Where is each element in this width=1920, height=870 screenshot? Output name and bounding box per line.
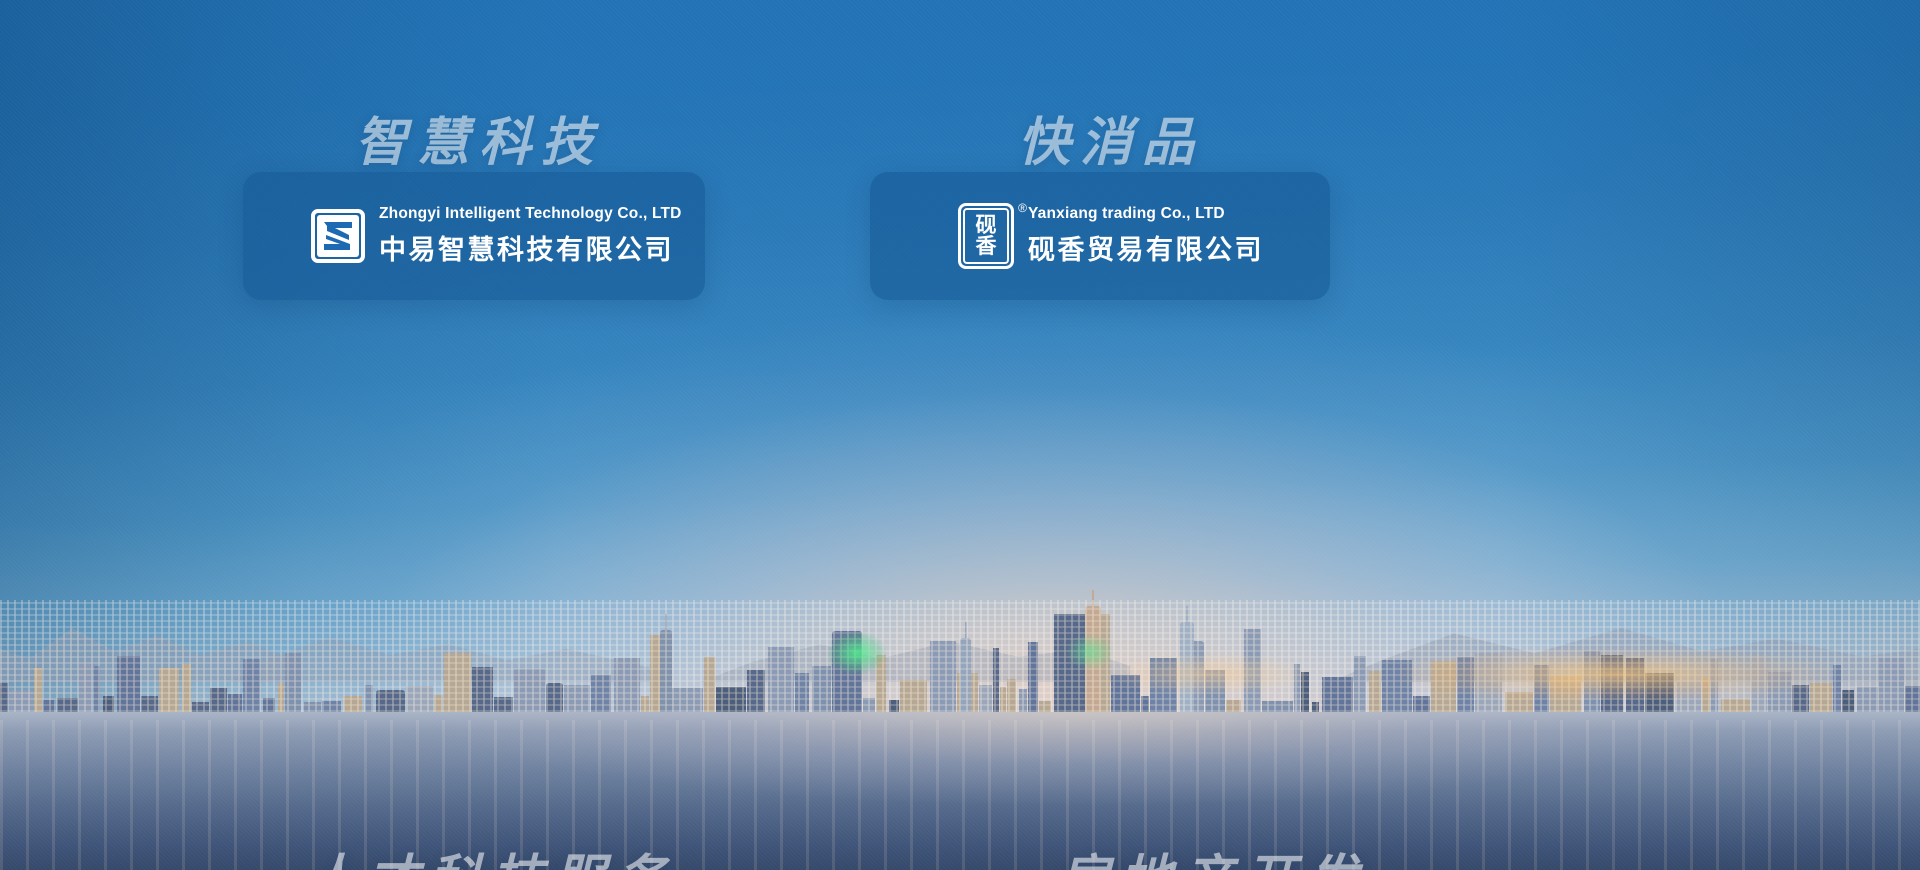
company-name-cn: 中易智慧科技有限公司	[379, 228, 682, 267]
yanxiang-logo-slot: 砚 香 ®	[958, 203, 1014, 269]
company-card-yanxiang-trading[interactable]: 砚 香 ® Yanxiang trading Co., LTD 砚香贸易有限公司	[870, 172, 1330, 300]
zhongyi-logo-slot	[311, 209, 365, 263]
seal-glyph-bottom: 香	[976, 236, 997, 257]
sector-title-fmcg: 快消品	[1018, 100, 1204, 175]
sector-block-talent-tech-services: 人才科技服务 NY Any technology development Co.…	[0, 435, 960, 870]
zhongyi-mark-icon	[317, 215, 359, 257]
seal-glyph-top: 砚	[976, 215, 997, 236]
sector-title-real-estate: 房地产开发	[1058, 837, 1368, 870]
sector-title-smart-technology: 智慧科技	[355, 100, 603, 175]
company-name-en: Zhongyi Intelligent Technology Co., LTD	[379, 205, 682, 223]
sector-block-fmcg: 快消品 砚 香 ® Yanxiang trading Co., LTD 砚香贸易…	[960, 0, 1920, 435]
sector-title-talent-tech-services: 人才科技服务	[305, 837, 677, 870]
zhongyi-logo-icon	[311, 209, 365, 263]
sector-block-smart-technology: 智慧科技 Zhongyi Intelligent Technology Co.,…	[0, 0, 960, 435]
business-sectors-grid: 智慧科技 Zhongyi Intelligent Technology Co.,…	[0, 0, 1920, 870]
registered-trademark-icon: ®	[1018, 201, 1027, 215]
company-card-zhongyi[interactable]: Zhongyi Intelligent Technology Co., LTD …	[243, 172, 705, 300]
yanxiang-name-block: Yanxiang trading Co., LTD 砚香贸易有限公司	[1028, 205, 1264, 267]
zhongyi-name-block: Zhongyi Intelligent Technology Co., LTD …	[379, 205, 682, 267]
company-name-cn: 砚香贸易有限公司	[1028, 228, 1264, 267]
yanxiang-seal-logo-icon: 砚 香 ®	[958, 203, 1014, 269]
company-name-en: Yanxiang trading Co., LTD	[1028, 205, 1264, 223]
sector-block-real-estate: 房地产开发 Yanxiang real estate development C…	[960, 435, 1920, 870]
